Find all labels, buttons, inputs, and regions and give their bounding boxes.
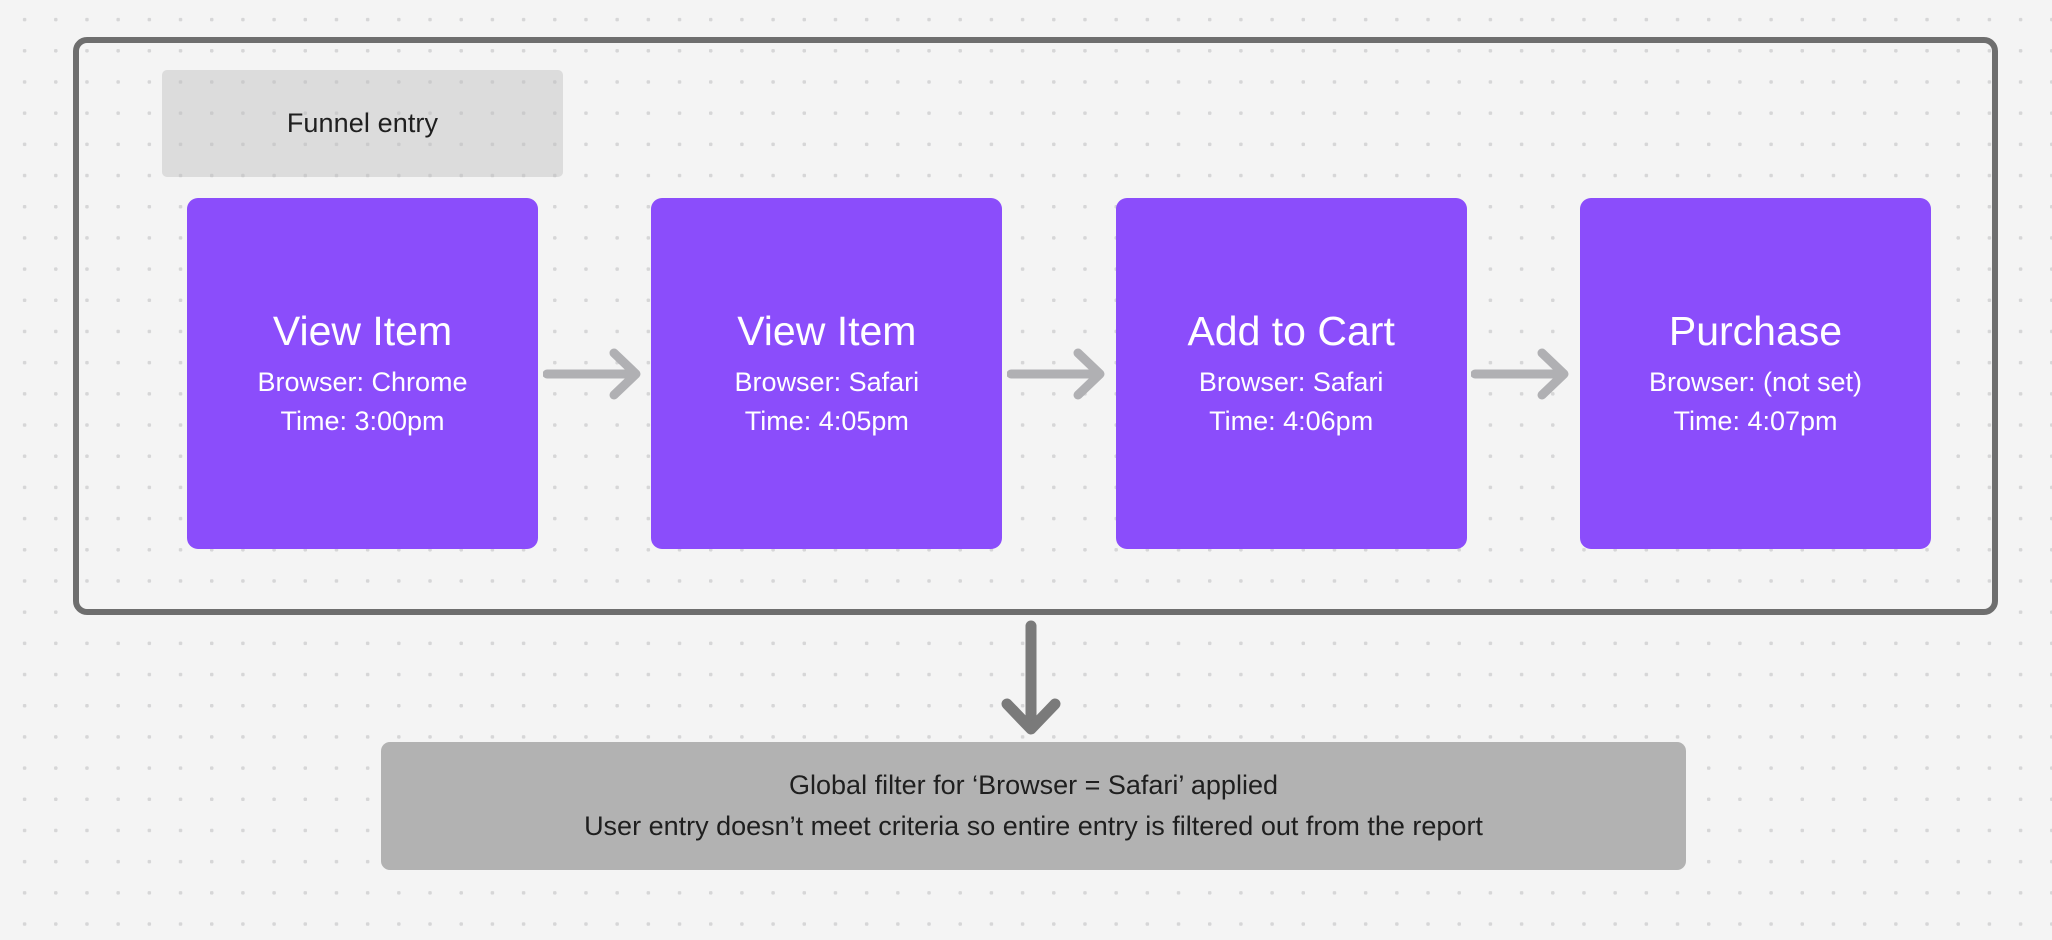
funnel-step-card-1[interactable]: View Item Browser: Chrome Time: 3:00pm — [187, 198, 538, 549]
funnel-entry-tag: Funnel entry — [162, 70, 563, 177]
step-connector-2-3 — [1002, 198, 1115, 549]
step-time: Time: 4:07pm — [1673, 402, 1837, 440]
global-filter-banner-line-2: User entry doesn’t meet criteria so enti… — [584, 806, 1483, 847]
step-browser: Browser: Safari — [1199, 363, 1384, 401]
funnel-steps-row: View Item Browser: Chrome Time: 3:00pm V… — [187, 198, 1931, 549]
arrow-right-icon — [543, 345, 647, 403]
funnel-entry-tag-label: Funnel entry — [287, 108, 438, 139]
arrow-right-icon — [1007, 345, 1111, 403]
step-time: Time: 4:06pm — [1209, 402, 1373, 440]
step-title: View Item — [273, 307, 452, 355]
step-title: View Item — [737, 307, 916, 355]
step-title: Add to Cart — [1187, 307, 1394, 355]
step-browser: Browser: Chrome — [257, 363, 467, 401]
funnel-step-card-3[interactable]: Add to Cart Browser: Safari Time: 4:06pm — [1116, 198, 1467, 549]
step-time: Time: 3:00pm — [280, 402, 444, 440]
funnel-to-banner-connector — [1000, 620, 1062, 738]
global-filter-banner: Global filter for ‘Browser = Safari’ app… — [381, 742, 1686, 870]
funnel-step-card-4[interactable]: Purchase Browser: (not set) Time: 4:07pm — [1580, 198, 1931, 549]
step-connector-3-4 — [1467, 198, 1580, 549]
step-time: Time: 4:05pm — [745, 402, 909, 440]
global-filter-banner-line-1: Global filter for ‘Browser = Safari’ app… — [789, 765, 1278, 806]
step-browser: Browser: Safari — [735, 363, 920, 401]
step-browser: Browser: (not set) — [1649, 363, 1862, 401]
arrow-down-icon — [1000, 620, 1062, 738]
funnel-step-card-2[interactable]: View Item Browser: Safari Time: 4:05pm — [651, 198, 1002, 549]
arrow-right-icon — [1471, 345, 1575, 403]
step-connector-1-2 — [538, 198, 651, 549]
funnel-diagram-canvas: { "diagram": { "entry_tag": { "label": "… — [0, 0, 2052, 940]
step-title: Purchase — [1669, 307, 1842, 355]
